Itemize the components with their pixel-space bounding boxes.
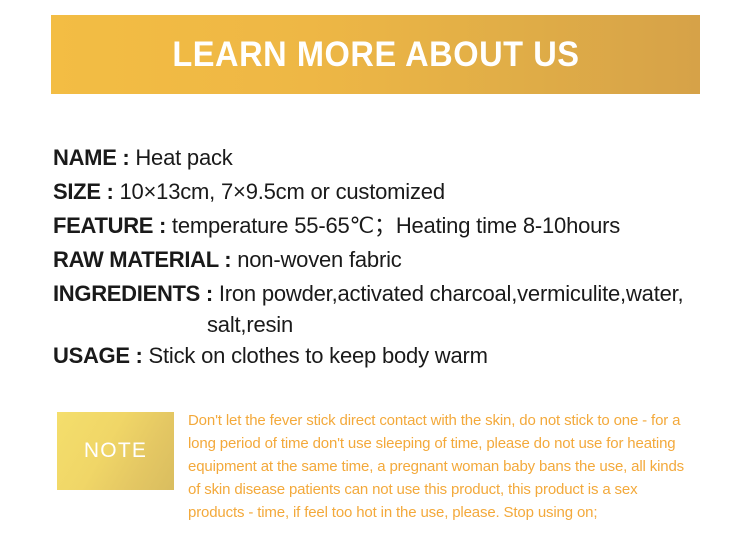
- header-banner: LEARN MORE ABOUT US: [51, 15, 700, 94]
- spec-label-name: NAME :: [53, 145, 129, 170]
- spec-row-raw-material: RAW MATERIAL : non-woven fabric: [53, 243, 723, 277]
- note-badge: NOTE: [57, 412, 174, 490]
- spec-value-usage: Stick on clothes to keep body warm: [149, 343, 488, 368]
- spec-row-name: NAME : Heat pack: [53, 141, 723, 175]
- spec-row-feature: FEATURE : temperature 55-65℃；Heating tim…: [53, 209, 723, 243]
- note-section: NOTE Don't let the fever stick direct co…: [57, 412, 727, 522]
- note-badge-label: NOTE: [84, 439, 147, 463]
- spec-value-size: 10×13cm, 7×9.5cm or customized: [119, 179, 444, 204]
- banner-title: LEARN MORE ABOUT US: [172, 37, 579, 72]
- note-line: equipment at the same time, a pregnant w…: [188, 455, 728, 478]
- note-line: of skin disease patients can not use thi…: [188, 478, 728, 501]
- spec-value-feature: temperature 55-65℃；Heating time 8-10hour…: [172, 213, 620, 238]
- spec-value-ingredients-continued: salt,resin: [53, 311, 723, 339]
- note-text: Don't let the fever stick direct contact…: [188, 409, 728, 524]
- spec-label-ingredients: INGREDIENTS :: [53, 281, 213, 306]
- spec-label-feature: FEATURE :: [53, 213, 166, 238]
- spec-value-ingredients: Iron powder,activated charcoal,vermiculi…: [219, 281, 684, 306]
- spec-label-raw-material: RAW MATERIAL :: [53, 247, 231, 272]
- product-info-page: LEARN MORE ABOUT US NAME : Heat pack SIZ…: [0, 0, 750, 536]
- spec-label-size: SIZE :: [53, 179, 114, 204]
- note-line: long period of time don't use sleeping o…: [188, 432, 728, 455]
- spec-list: NAME : Heat pack SIZE : 10×13cm, 7×9.5cm…: [53, 141, 723, 373]
- spec-row-ingredients: INGREDIENTS : Iron powder,activated char…: [53, 277, 723, 339]
- spec-row-usage: USAGE : Stick on clothes to keep body wa…: [53, 339, 723, 373]
- spec-value-raw-material: non-woven fabric: [237, 247, 401, 272]
- note-line: products - time, if feel too hot in the …: [188, 501, 728, 524]
- spec-value-name: Heat pack: [135, 145, 232, 170]
- spec-row-size: SIZE : 10×13cm, 7×9.5cm or customized: [53, 175, 723, 209]
- spec-label-usage: USAGE :: [53, 343, 143, 368]
- note-line: Don't let the fever stick direct contact…: [188, 409, 728, 432]
